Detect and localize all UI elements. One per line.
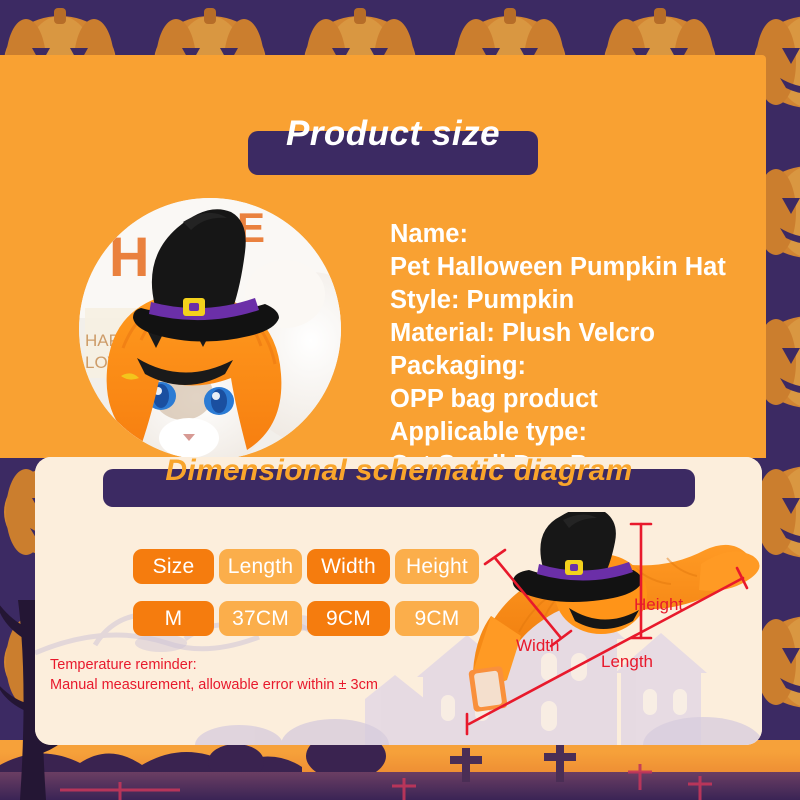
spec-line-packaging-label: Packaging: bbox=[390, 350, 755, 383]
size-table-row: M 37CM 9CM 9CM bbox=[133, 601, 479, 636]
reminder-text: Manual measurement, allowable error with… bbox=[50, 675, 378, 695]
cell-size-value: M bbox=[133, 601, 214, 636]
header-cell-size: Size bbox=[133, 549, 214, 584]
spec-line-style: Style: Pumpkin bbox=[390, 284, 755, 317]
header-cell-length: Length bbox=[219, 549, 302, 584]
size-table: Size Length Width Height M 37CM 9CM 9CM bbox=[133, 549, 479, 653]
spec-line-name-value: Pet Halloween Pumpkin Hat bbox=[390, 251, 755, 284]
product-info-panel: Product size H V E bbox=[0, 55, 766, 458]
spec-line-applicable-label: Applicable type: bbox=[390, 416, 755, 449]
dimension-label-length: Length bbox=[601, 652, 653, 672]
spec-line-packaging-value: OPP bag product bbox=[390, 383, 755, 416]
product-title: Product size bbox=[248, 131, 538, 175]
dimension-label-height: Height bbox=[634, 595, 683, 615]
schematic-title: Dimensional schematic diagram bbox=[103, 469, 695, 507]
spec-line-name-label: Name: bbox=[390, 218, 755, 251]
svg-text:H: H bbox=[109, 225, 149, 288]
schematic-title-label: Dimensional schematic diagram bbox=[103, 457, 695, 488]
cell-width-value: 9CM bbox=[307, 601, 390, 636]
product-title-label: Product size bbox=[248, 114, 538, 154]
cell-length-value: 37CM bbox=[219, 601, 302, 636]
size-table-header-row: Size Length Width Height bbox=[133, 549, 479, 584]
product-photo: H V E HAPP LOW bbox=[79, 198, 341, 460]
temperature-reminder: Temperature reminder: Manual measurement… bbox=[50, 655, 378, 695]
reminder-title: Temperature reminder: bbox=[50, 655, 378, 675]
product-spec-list: Name: Pet Halloween Pumpkin Hat Style: P… bbox=[390, 218, 755, 482]
header-cell-width: Width bbox=[307, 549, 390, 584]
dimension-figure bbox=[465, 512, 762, 737]
dimension-label-width: Width bbox=[516, 636, 559, 656]
spec-line-material: Material: Plush Velcro bbox=[390, 317, 755, 350]
